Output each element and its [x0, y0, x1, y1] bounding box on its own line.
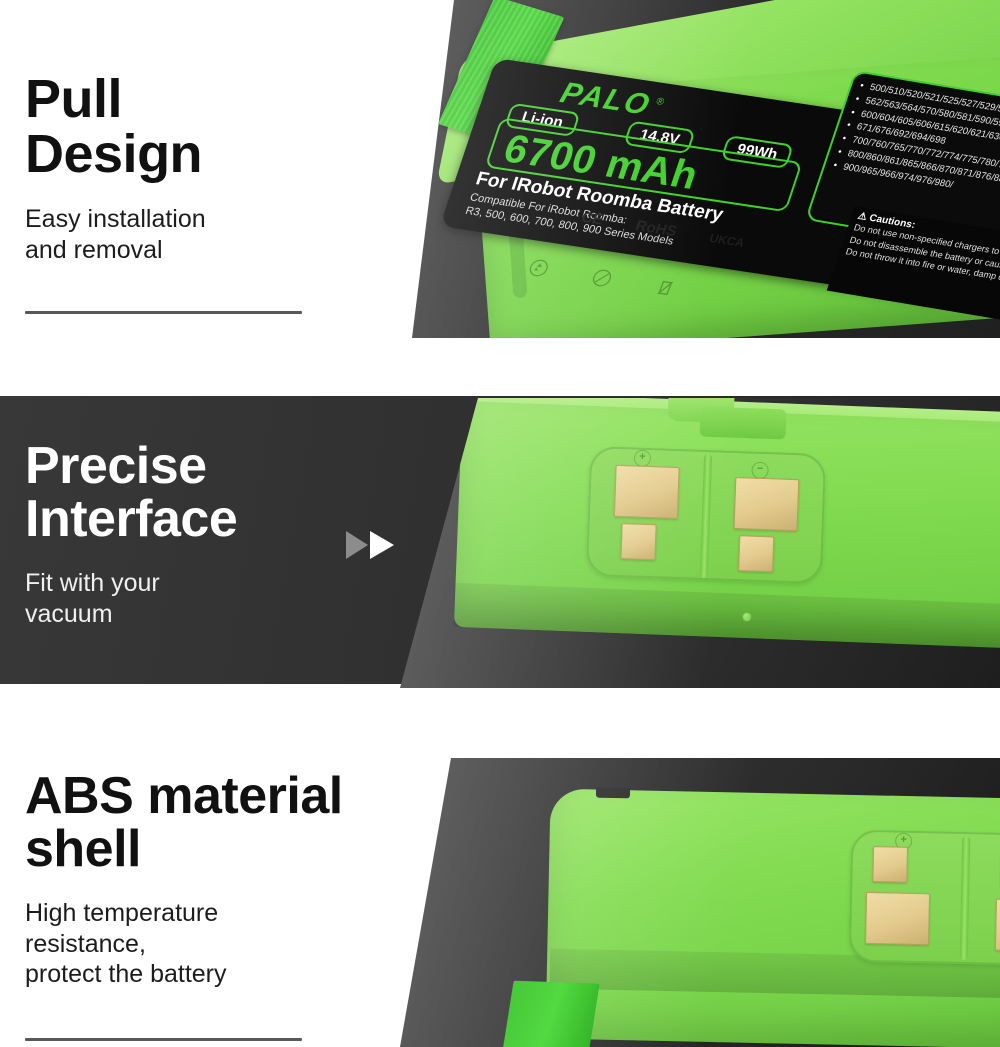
label-registered-mark: ®	[655, 96, 666, 108]
pull-tab-ribbon	[502, 981, 599, 1047]
panel-2-subcopy: Fit with your vacuum	[25, 568, 355, 629]
no-disposal-icon	[588, 267, 615, 289]
contact-pad	[995, 899, 1000, 952]
panel-1-text: Pull Design Easy installation and remova…	[25, 72, 365, 265]
contact-pad	[620, 523, 656, 560]
ukca-mark: UKCA	[708, 231, 747, 250]
contact-pad	[734, 477, 800, 531]
contact-pad	[738, 535, 774, 572]
battery-tab-stub	[700, 407, 787, 440]
panel-precise-interface: + − Precise Interface Fit with your vacu…	[0, 396, 1000, 692]
screw-hole-icon	[742, 612, 752, 622]
product-photo-abs-shell: + −	[400, 758, 1000, 1047]
product-photo-pull-design: PALO ® Model: SR01 Li-ion 14.8V 99Wh 670…	[400, 0, 1000, 338]
panel-3-text: ABS material shell High temperature resi…	[25, 770, 425, 990]
panel-3-subcopy: High temperature resistance, protect the…	[25, 898, 425, 990]
panel-abs-material-shell: + − ABS material shell High temperature …	[0, 700, 1000, 1047]
contact-interface-plate: + −	[586, 446, 826, 584]
panel-3-headline: ABS material shell	[25, 770, 425, 876]
panel-2-text: Precise Interface Fit with your vacuum	[25, 440, 355, 629]
contact-pad	[865, 892, 930, 945]
panel-pull-design: PALO ® Model: SR01 Li-ion 14.8V 99Wh 670…	[0, 0, 1000, 378]
contact-interface-plate: + −	[849, 830, 1000, 967]
panel-3-divider-rule	[25, 1038, 302, 1041]
double-chevron-right-icon	[344, 528, 398, 562]
panel-2-headline: Precise Interface	[25, 440, 355, 546]
panel-1-divider-rule	[25, 311, 302, 314]
battery-notch	[596, 788, 630, 799]
contact-pad	[872, 846, 908, 883]
contact-pad	[614, 465, 680, 519]
ce-mark: CE	[579, 209, 605, 229]
product-photo-precise-interface: + −	[400, 398, 1000, 688]
panel-1-headline: Pull Design	[25, 72, 365, 182]
panel-1-subcopy: Easy installation and removal	[25, 204, 365, 265]
